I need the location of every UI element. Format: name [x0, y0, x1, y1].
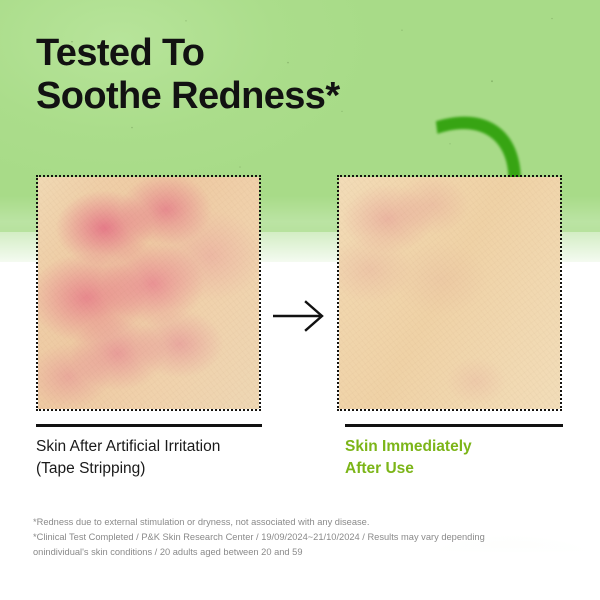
arrow-right-icon — [272, 299, 328, 338]
skin-photo-irritated — [38, 177, 259, 409]
caption-before-line-1: Skin After Artificial Irritation — [36, 436, 220, 458]
ad-creative: Tested To Soothe Redness* Skin After Art… — [0, 0, 600, 600]
skin-texture-overlay — [38, 177, 259, 409]
headline: Tested To Soothe Redness* — [36, 32, 340, 119]
caption-rule-before — [36, 424, 262, 427]
caption-after-line-2: After Use — [345, 458, 472, 480]
caption-before: Skin After Artificial Irritation (Tape S… — [36, 436, 220, 480]
footnote-line-2: *Clinical Test Completed / P&K Skin Rese… — [33, 530, 573, 545]
skin-texture-overlay — [339, 177, 560, 409]
caption-rule-after — [345, 424, 563, 427]
footnote-line-1: *Redness due to external stimulation or … — [33, 515, 573, 530]
footnote: *Redness due to external stimulation or … — [33, 515, 573, 560]
skin-photo-calm — [339, 177, 560, 409]
headline-line-1: Tested To — [36, 32, 340, 75]
caption-before-line-2: (Tape Stripping) — [36, 458, 220, 480]
caption-after: Skin Immediately After Use — [345, 436, 472, 480]
headline-line-2: Soothe Redness* — [36, 75, 340, 118]
caption-after-line-1: Skin Immediately — [345, 436, 472, 458]
footnote-line-3: onindividual's skin conditions / 20 adul… — [33, 545, 573, 560]
after-image-panel — [337, 175, 562, 411]
before-image-panel — [36, 175, 261, 411]
